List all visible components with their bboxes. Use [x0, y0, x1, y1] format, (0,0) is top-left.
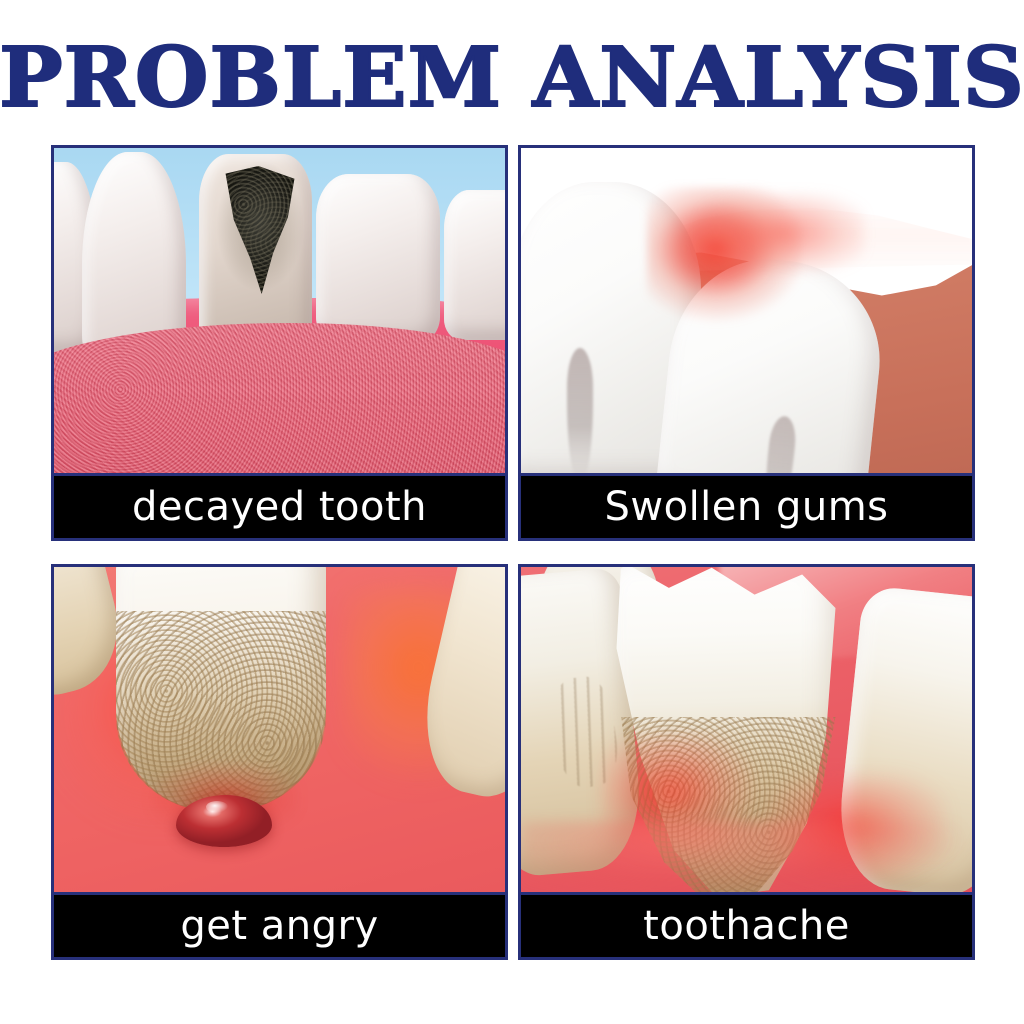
inflammation-glow-secondary — [701, 194, 863, 272]
caption-label: Swollen gums — [604, 485, 888, 529]
problem-analysis-poster: PROBLEM ANALYSIS — [0, 0, 1024, 1024]
gum-line-glow — [521, 821, 972, 893]
caption-bar-swollen-gums: Swollen gums — [518, 476, 975, 541]
caption-label: get angry — [180, 904, 378, 948]
abscess-highlight — [206, 801, 228, 813]
panel-decayed-tooth[interactable]: decayed tooth — [51, 145, 508, 541]
tongue-tissue — [54, 323, 505, 473]
caption-label: toothache — [643, 904, 850, 948]
caption-bar-toothache: toothache — [518, 895, 975, 960]
illustration-get-angry — [54, 567, 505, 892]
illustration-decayed-tooth — [54, 148, 505, 473]
tooth-root-groove-left — [567, 348, 593, 473]
tooth-molar-right — [316, 174, 440, 344]
panel-image-frame-decayed-tooth — [51, 145, 508, 476]
panel-swollen-gums[interactable]: Swollen gums — [518, 145, 975, 541]
panel-image-frame-swollen-gums — [518, 145, 975, 476]
panel-get-angry[interactable]: get angry — [51, 564, 508, 960]
caption-label: decayed tooth — [132, 485, 427, 529]
illustration-toothache — [521, 567, 972, 892]
panel-image-frame-toothache — [518, 564, 975, 895]
tooth-molar-far-right — [444, 190, 505, 340]
panel-toothache[interactable]: toothache — [518, 564, 975, 960]
caption-bar-decayed-tooth: decayed tooth — [51, 476, 508, 541]
illustration-swollen-gums — [521, 148, 972, 473]
panel-grid: decayed tooth Swollen gums — [51, 145, 975, 960]
panel-image-frame-get-angry — [51, 564, 508, 895]
caption-bar-get-angry: get angry — [51, 895, 508, 960]
page-title: PROBLEM ANALYSIS — [0, 36, 1024, 120]
